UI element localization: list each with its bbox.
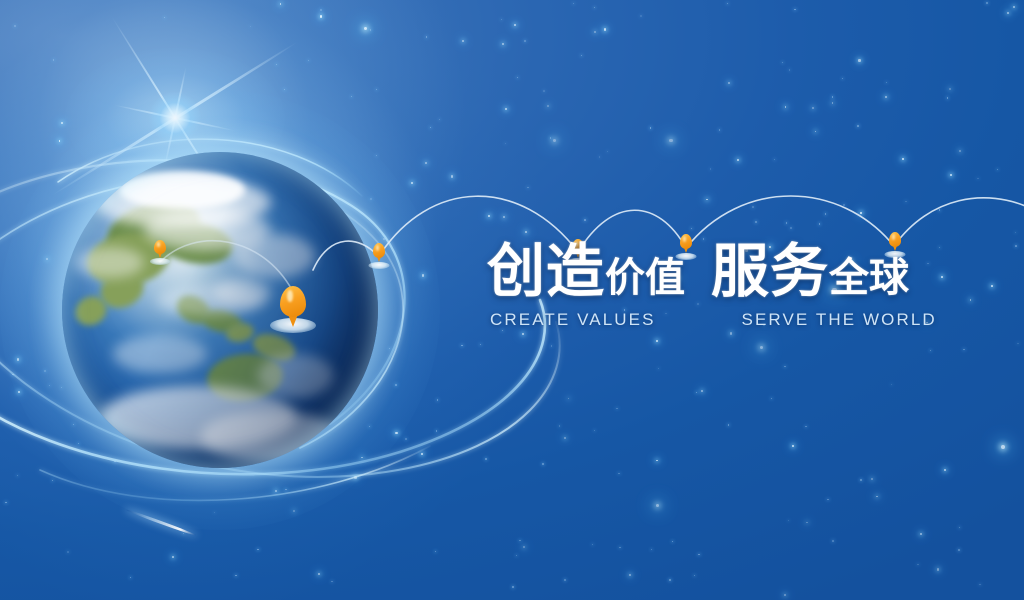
map-pin-base <box>369 262 390 269</box>
star-dot <box>370 29 371 30</box>
star-dot <box>950 174 952 176</box>
star-dot <box>564 579 566 581</box>
star-dot <box>706 199 708 201</box>
earth-sphere <box>62 152 378 468</box>
star-dot <box>514 24 516 26</box>
map-pin-marker <box>154 240 166 254</box>
star-dot <box>727 3 728 4</box>
star-dot <box>604 28 606 30</box>
star-dot <box>480 344 481 345</box>
headline-block: 创造 价值 服务 全球 CREATE VALUES SERVE THE WORL… <box>487 243 917 330</box>
star-dot <box>944 469 946 471</box>
star-dot <box>939 247 940 248</box>
star-dot <box>1001 445 1005 449</box>
star-dot <box>784 366 785 367</box>
star-dot <box>927 263 929 265</box>
star-dot <box>656 340 658 342</box>
star-dot <box>997 169 998 170</box>
star-dot <box>843 204 845 206</box>
star-dot <box>462 40 464 42</box>
star-dot <box>979 584 981 586</box>
star-dot <box>656 460 658 462</box>
map-pin-globe-main[interactable] <box>280 286 306 326</box>
headline-cn-serve: 服务 <box>711 243 829 301</box>
star-dot <box>547 105 549 107</box>
hero-banner: 创造 价值 服务 全球 CREATE VALUES SERVE THE WORL… <box>0 0 1024 600</box>
star-dot <box>917 564 919 566</box>
star-dot <box>941 276 943 278</box>
star-dot <box>280 3 282 5</box>
star-dot <box>760 346 763 349</box>
star-dot <box>842 78 843 79</box>
star-dot <box>710 168 711 169</box>
star-dot <box>672 541 674 543</box>
star-dot <box>594 430 595 431</box>
earth-globe <box>62 152 378 468</box>
star-dot <box>858 59 860 61</box>
star-dot <box>1015 232 1016 233</box>
star-dot <box>728 82 730 84</box>
star-dot <box>584 219 586 221</box>
star-dot <box>564 437 566 439</box>
star-dot <box>885 96 887 98</box>
star-dot <box>774 159 775 160</box>
star-dot <box>164 17 165 18</box>
headline-cn-create: 创造 <box>487 243 605 301</box>
star-dot <box>172 556 174 558</box>
star-dot <box>525 231 527 233</box>
map-pin-highlight <box>892 234 895 240</box>
star-dot <box>376 89 377 90</box>
star-dot <box>871 478 873 480</box>
star-dot <box>958 549 960 551</box>
star-dot <box>451 175 453 177</box>
star-dot <box>860 479 862 481</box>
star-dot <box>351 96 353 98</box>
star-dot <box>17 475 18 476</box>
star-dot <box>785 106 787 108</box>
star-dot <box>183 533 185 535</box>
star-dot <box>523 546 525 548</box>
star-dot <box>658 368 659 369</box>
star-dot <box>607 151 608 152</box>
star-dot <box>485 458 487 460</box>
map-pin-marker <box>373 243 385 258</box>
star-dot <box>364 27 367 30</box>
star-dot <box>5 502 6 503</box>
star-dot <box>698 554 700 556</box>
star-dot <box>691 228 692 229</box>
star-dot <box>991 285 993 287</box>
star-dot <box>522 333 524 335</box>
star-dot <box>650 127 652 129</box>
star-dot <box>790 227 792 229</box>
star-dot <box>235 575 236 576</box>
star-dot <box>977 178 978 179</box>
headline-line-cn: 创造 价值 服务 全球 <box>487 243 917 301</box>
star-dot <box>902 158 904 160</box>
star-dot <box>812 107 814 109</box>
star-dot <box>52 480 53 481</box>
star-dot <box>905 201 907 203</box>
star-dot <box>730 332 732 334</box>
star-dot <box>516 555 517 556</box>
star-dot <box>719 129 720 130</box>
star-dot <box>550 137 552 139</box>
star-dot <box>435 551 436 552</box>
star-dot <box>728 424 729 425</box>
star-dot <box>819 223 820 224</box>
route-arc-4 <box>894 198 1024 246</box>
star-dot <box>949 88 951 90</box>
star-dot <box>752 206 754 208</box>
star-dot <box>425 162 427 164</box>
star-dot <box>815 131 817 133</box>
star-dot <box>832 96 834 98</box>
star-dot <box>430 127 431 128</box>
headline-cn-world: 全球 <box>829 258 909 298</box>
star-dot <box>832 540 834 542</box>
star-dot <box>524 40 526 42</box>
star-dot <box>308 60 310 62</box>
star-dot <box>543 90 545 92</box>
star-dot <box>986 2 987 3</box>
star-dot <box>527 187 528 188</box>
star-dot <box>886 82 887 83</box>
star-dot <box>737 159 739 161</box>
map-pin-marker <box>280 286 306 317</box>
star-dot <box>553 139 557 143</box>
star-dot <box>59 140 61 142</box>
star-dot <box>505 108 507 110</box>
star-dot <box>786 222 787 223</box>
map-pin-highlight <box>683 236 686 242</box>
star-dot <box>331 581 333 583</box>
map-pin-highlight <box>376 245 379 251</box>
star-dot <box>959 150 961 152</box>
star-dot <box>920 533 922 535</box>
star-dot <box>959 527 961 529</box>
star-dot <box>426 36 428 38</box>
star-dot <box>619 547 620 548</box>
star-dot <box>1017 343 1019 345</box>
star-dot <box>963 349 965 351</box>
star-dot <box>825 213 827 215</box>
star-dot <box>755 221 757 223</box>
star-dot <box>61 122 63 124</box>
map-pin-globe-north[interactable] <box>154 240 166 258</box>
subtitle-serve-the-world: SERVE THE WORLD <box>742 310 937 330</box>
star-dot <box>594 31 596 33</box>
star-dot <box>421 453 423 455</box>
star-dot <box>14 25 16 27</box>
star-dot <box>794 9 796 11</box>
star-dot <box>792 445 794 447</box>
star-dot <box>501 19 502 20</box>
star-dot <box>599 156 601 158</box>
star-dot <box>947 97 949 99</box>
star-dot <box>1013 6 1015 8</box>
star-dot <box>519 540 520 541</box>
map-pin-highlight <box>287 290 293 302</box>
star-dot <box>782 62 783 63</box>
star-dot <box>502 43 504 45</box>
star-dot <box>939 209 941 211</box>
star-dot <box>806 522 808 524</box>
star-dot <box>318 573 320 575</box>
star-dot <box>616 408 618 410</box>
star-dot <box>1015 245 1017 247</box>
star-dot <box>439 119 440 120</box>
star-dot <box>512 586 513 587</box>
star-dot <box>53 59 54 60</box>
star-dot <box>876 496 878 498</box>
star-dot <box>1007 12 1009 14</box>
star-dot <box>669 139 673 143</box>
star-dot <box>573 3 574 4</box>
star-dot <box>640 15 642 17</box>
star-dot <box>568 398 570 400</box>
star-dot <box>669 579 671 581</box>
star-dot <box>276 64 278 66</box>
star-dot <box>788 520 789 521</box>
star-dot <box>488 215 490 217</box>
star-dot <box>827 499 828 500</box>
star-dot <box>789 69 791 71</box>
star-dot <box>503 216 505 218</box>
star-dot <box>405 438 407 440</box>
star-dot <box>257 549 259 551</box>
star-dot <box>542 463 544 465</box>
star-dot <box>67 551 69 553</box>
star-dot <box>651 549 653 551</box>
star-dot <box>805 426 807 428</box>
star-dot <box>696 392 697 393</box>
headline-cn-values: 价值 <box>605 258 685 298</box>
earth-rim-light <box>62 152 378 468</box>
star-dot <box>629 574 631 576</box>
star-dot <box>832 102 834 104</box>
star-dot <box>694 575 695 576</box>
star-dot <box>860 212 862 214</box>
map-pin-highlight <box>157 242 160 248</box>
star-dot <box>771 398 772 399</box>
star-dot <box>320 9 322 11</box>
map-pin-route-1[interactable] <box>373 243 385 262</box>
subtitle-create-values: CREATE VALUES <box>490 310 656 330</box>
star-dot <box>320 15 322 17</box>
star-dot <box>130 577 131 578</box>
star-dot <box>857 125 859 127</box>
star-dot <box>436 430 437 431</box>
headline-line-en: CREATE VALUES SERVE THE WORLD <box>487 310 917 330</box>
star-dot <box>701 390 703 392</box>
star-dot <box>656 504 659 507</box>
star-dot <box>411 182 413 184</box>
star-dot <box>592 544 594 546</box>
star-dot <box>517 77 518 78</box>
star-dot <box>937 568 939 570</box>
star-dot <box>502 330 503 331</box>
star-dot <box>618 473 619 474</box>
star-dot <box>551 345 552 346</box>
star-dot <box>970 299 972 301</box>
star-dot <box>250 26 251 27</box>
star-dot <box>461 345 462 346</box>
star-dot <box>703 238 704 239</box>
star-dot <box>437 399 438 400</box>
star-dot <box>559 425 561 427</box>
star-dot <box>594 7 595 8</box>
star-dot <box>784 594 786 596</box>
star-dot <box>505 143 506 144</box>
star-dot <box>891 384 893 386</box>
map-pin-base <box>150 258 170 265</box>
star-dot <box>284 89 285 90</box>
star-dot <box>930 350 931 351</box>
star-dot <box>581 55 582 56</box>
